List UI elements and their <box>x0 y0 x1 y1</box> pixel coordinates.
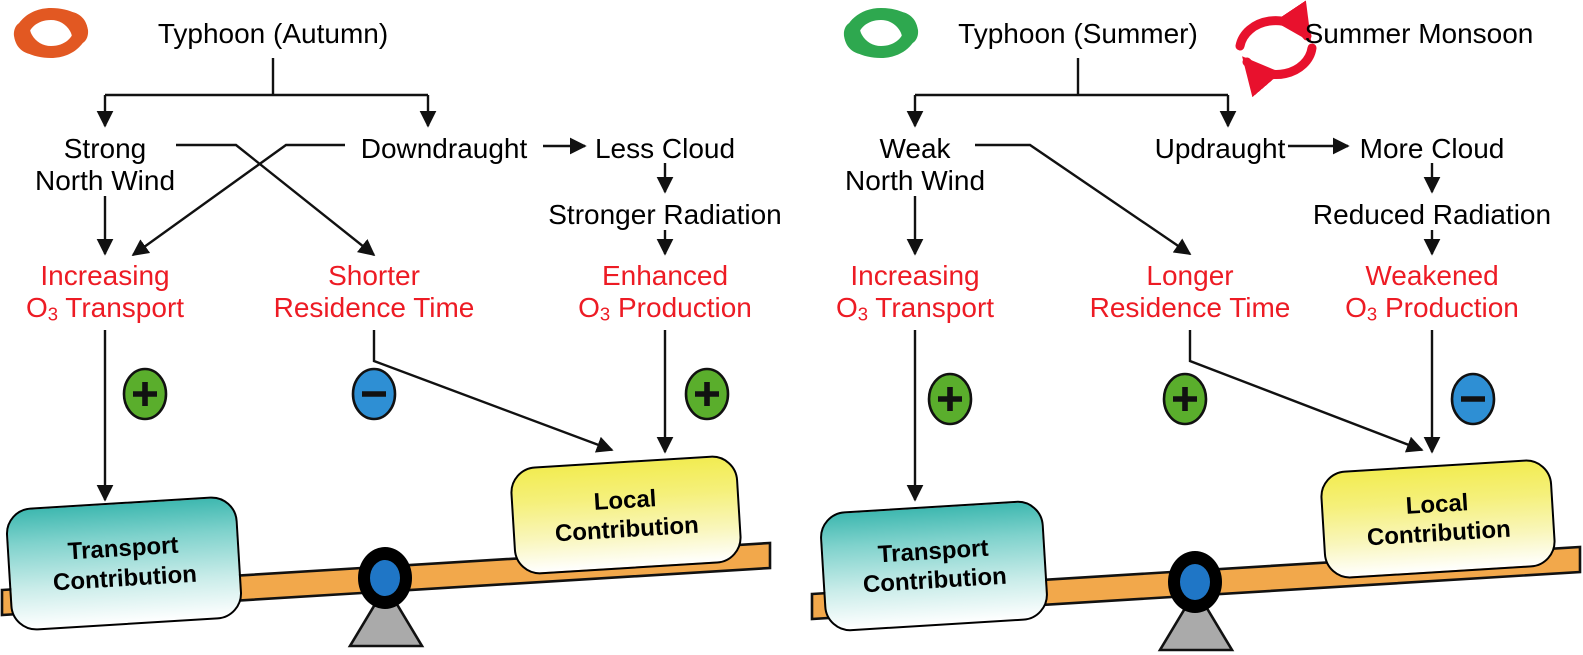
seesaw-pivot-core-summer <box>1180 564 1210 600</box>
diagram-canvas: Typhoon (Autumn) Strong North Wind Downd… <box>0 0 1583 655</box>
pan-local-summer[interactable]: Local Contribution <box>1319 458 1557 580</box>
pan-transport-summer[interactable]: Transport Contribution <box>819 499 1050 632</box>
